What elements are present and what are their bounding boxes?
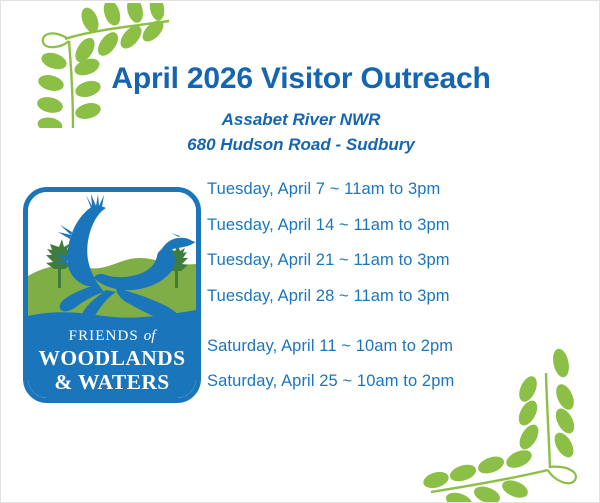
- subtitle-block: Assabet River NWR 680 Hudson Road - Sudb…: [1, 108, 600, 156]
- logo-wordmark-line-1: FRIENDS of: [28, 328, 196, 346]
- logo-frame: FRIENDS of WOODLANDS & WATERS: [23, 187, 201, 403]
- page-title: April 2026 Visitor Outreach: [1, 63, 600, 95]
- list-item: Tuesday, April 14 ~ 11am to 3pm: [207, 217, 537, 237]
- list-item: Saturday, April 11 ~ 10am to 2pm: [207, 338, 537, 358]
- list-item: Tuesday, April 21 ~ 11am to 3pm: [207, 252, 537, 272]
- headline-block: April 2026 Visitor Outreach Assabet Rive…: [1, 63, 600, 157]
- list-item: Saturday, April 25 ~ 10am to 2pm: [207, 373, 537, 393]
- organization-logo: FRIENDS of WOODLANDS & WATERS: [23, 187, 201, 403]
- schedule-list: Tuesday, April 7 ~ 11am to 3pm Tuesday, …: [207, 181, 537, 409]
- logo-wordmark-line-2: WOODLANDS: [28, 346, 196, 370]
- list-item: Tuesday, April 28 ~ 11am to 3pm: [207, 288, 537, 308]
- event-flyer: April 2026 Visitor Outreach Assabet Rive…: [0, 0, 600, 503]
- logo-wordmark: FRIENDS of WOODLANDS & WATERS: [28, 328, 196, 394]
- list-item: Tuesday, April 7 ~ 11am to 3pm: [207, 181, 537, 201]
- subtitle-line-address: 680 Hudson Road - Sudbury: [1, 133, 600, 157]
- subtitle-line-venue: Assabet River NWR: [1, 108, 600, 132]
- logo-word-friends: FRIENDS: [69, 328, 139, 344]
- logo-word-of: of: [144, 328, 156, 344]
- logo-wordmark-line-3: & WATERS: [28, 370, 196, 394]
